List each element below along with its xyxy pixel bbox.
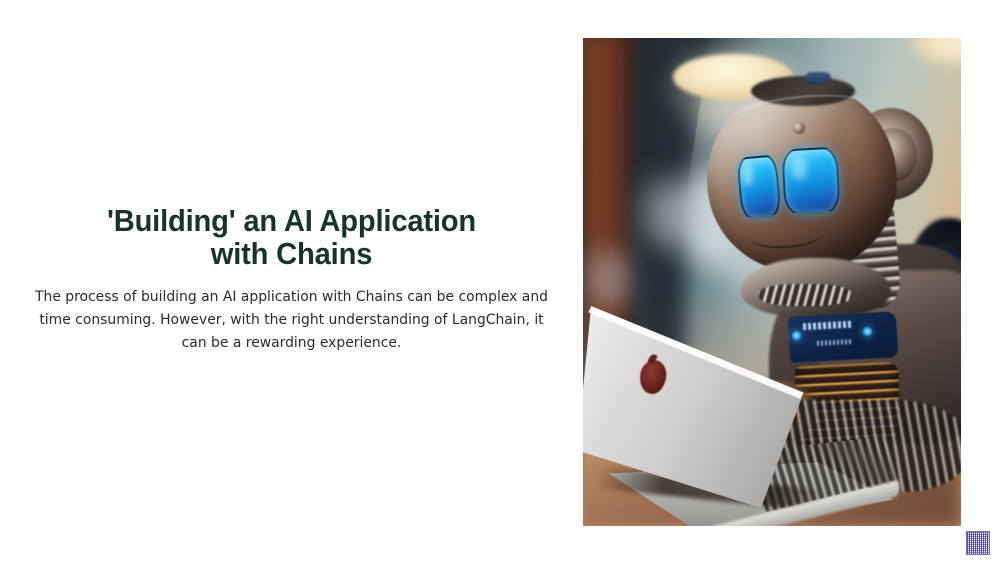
robot-collar-teeth: [759, 284, 851, 306]
robot-chest-indicator-left: [792, 331, 801, 340]
robot-eye-left: [736, 154, 781, 219]
robot-chest-display: [788, 311, 898, 363]
robot-laptop-image: [583, 38, 961, 526]
robot-eye-left-glint: [743, 164, 753, 186]
presentation-slide: 'Building' an AI Application with Chains…: [0, 0, 1000, 563]
robot-eye-right-glint: [791, 156, 807, 180]
robot-head-knob: [805, 72, 831, 84]
qr-code-icon[interactable]: [966, 531, 990, 555]
robot-eye-right: [781, 147, 840, 216]
bokeh-light-5: [587, 250, 631, 308]
slide-text-column: 'Building' an AI Application with Chains…: [0, 0, 583, 563]
robot-head-screw: [793, 122, 805, 134]
robot-chest-indicator-right: [863, 327, 872, 336]
slide-body-text: The process of building an AI applicatio…: [27, 286, 555, 355]
page-title: 'Building' an AI Application with Chains: [36, 204, 546, 270]
